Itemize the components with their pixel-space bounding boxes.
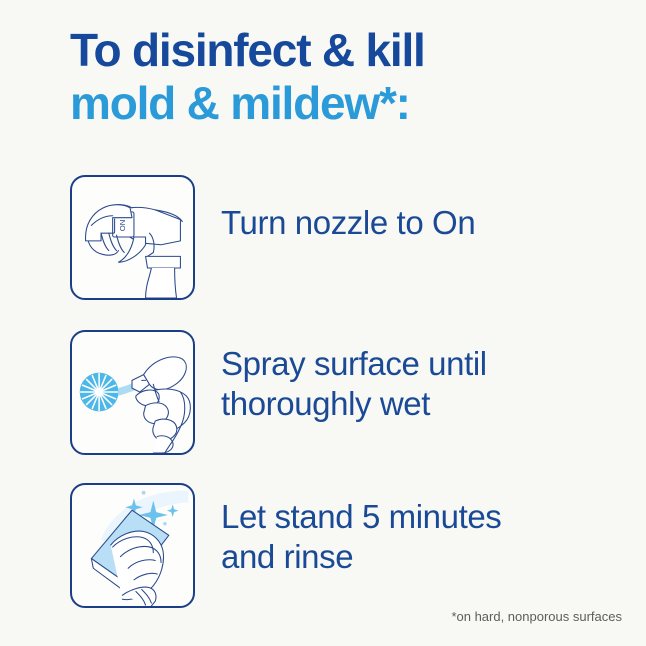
instruction-panel: To disinfect & kill mold & mildew*: — [0, 0, 646, 646]
turn-nozzle-to-on-icon: ON — [70, 175, 195, 300]
step-label: Spray surface until thoroughly wet — [221, 330, 487, 425]
step-item: Spray surface until thoroughly wet — [70, 330, 610, 455]
headline-line-2: mold & mildew*: — [70, 77, 610, 130]
wipe-step-item: Let stand 5 minutes and rinse — [70, 483, 610, 608]
svg-text:ON: ON — [118, 220, 127, 232]
step-label: Let stand 5 minutes and rinse — [221, 483, 501, 578]
headline-line-1: To disinfect & kill — [70, 24, 610, 77]
wipe-with-cloth-icon — [70, 483, 195, 608]
page-title: To disinfect & kill mold & mildew*: — [70, 24, 610, 131]
step-label: Turn nozzle to On — [221, 175, 475, 243]
footnote: *on hard, nonporous surfaces — [451, 609, 622, 624]
spray-surface-icon — [70, 330, 195, 455]
step-item: ON — [70, 175, 610, 300]
